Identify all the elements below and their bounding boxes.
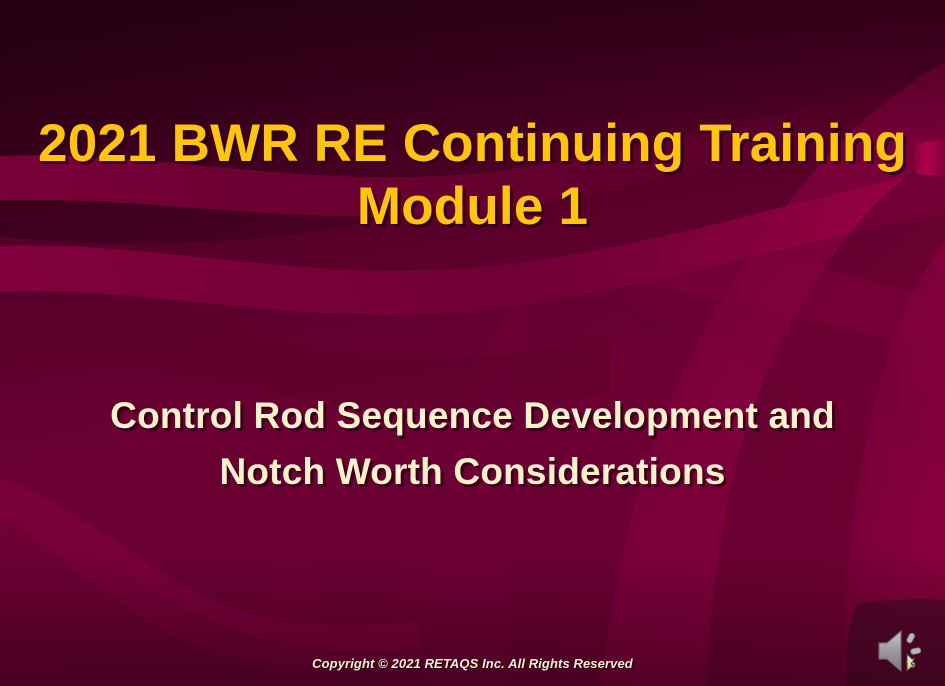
copyright-notice: Copyright © 2021 RETAQS Inc. All Rights …: [0, 655, 945, 673]
slide-background-artwork: [0, 0, 945, 686]
presentation-slide: 2021 BWR RE Continuing Training Module 1…: [0, 0, 945, 686]
title-line-1: 2021 BWR RE Continuing Training: [24, 112, 921, 175]
title-line-2: Module 1: [24, 175, 921, 238]
subtitle-line-2: Notch Worth Considerations: [40, 444, 905, 500]
slide-title: 2021 BWR RE Continuing Training Module 1: [0, 112, 945, 238]
subtitle-line-1: Control Rod Sequence Development and: [40, 388, 905, 444]
speaker-audio-icon[interactable]: [877, 628, 929, 674]
speaker-body-shape: [879, 631, 901, 671]
slide-subtitle: Control Rod Sequence Development and Not…: [0, 388, 945, 500]
copyright-text: Copyright © 2021 RETAQS Inc. All Rights …: [312, 656, 633, 671]
